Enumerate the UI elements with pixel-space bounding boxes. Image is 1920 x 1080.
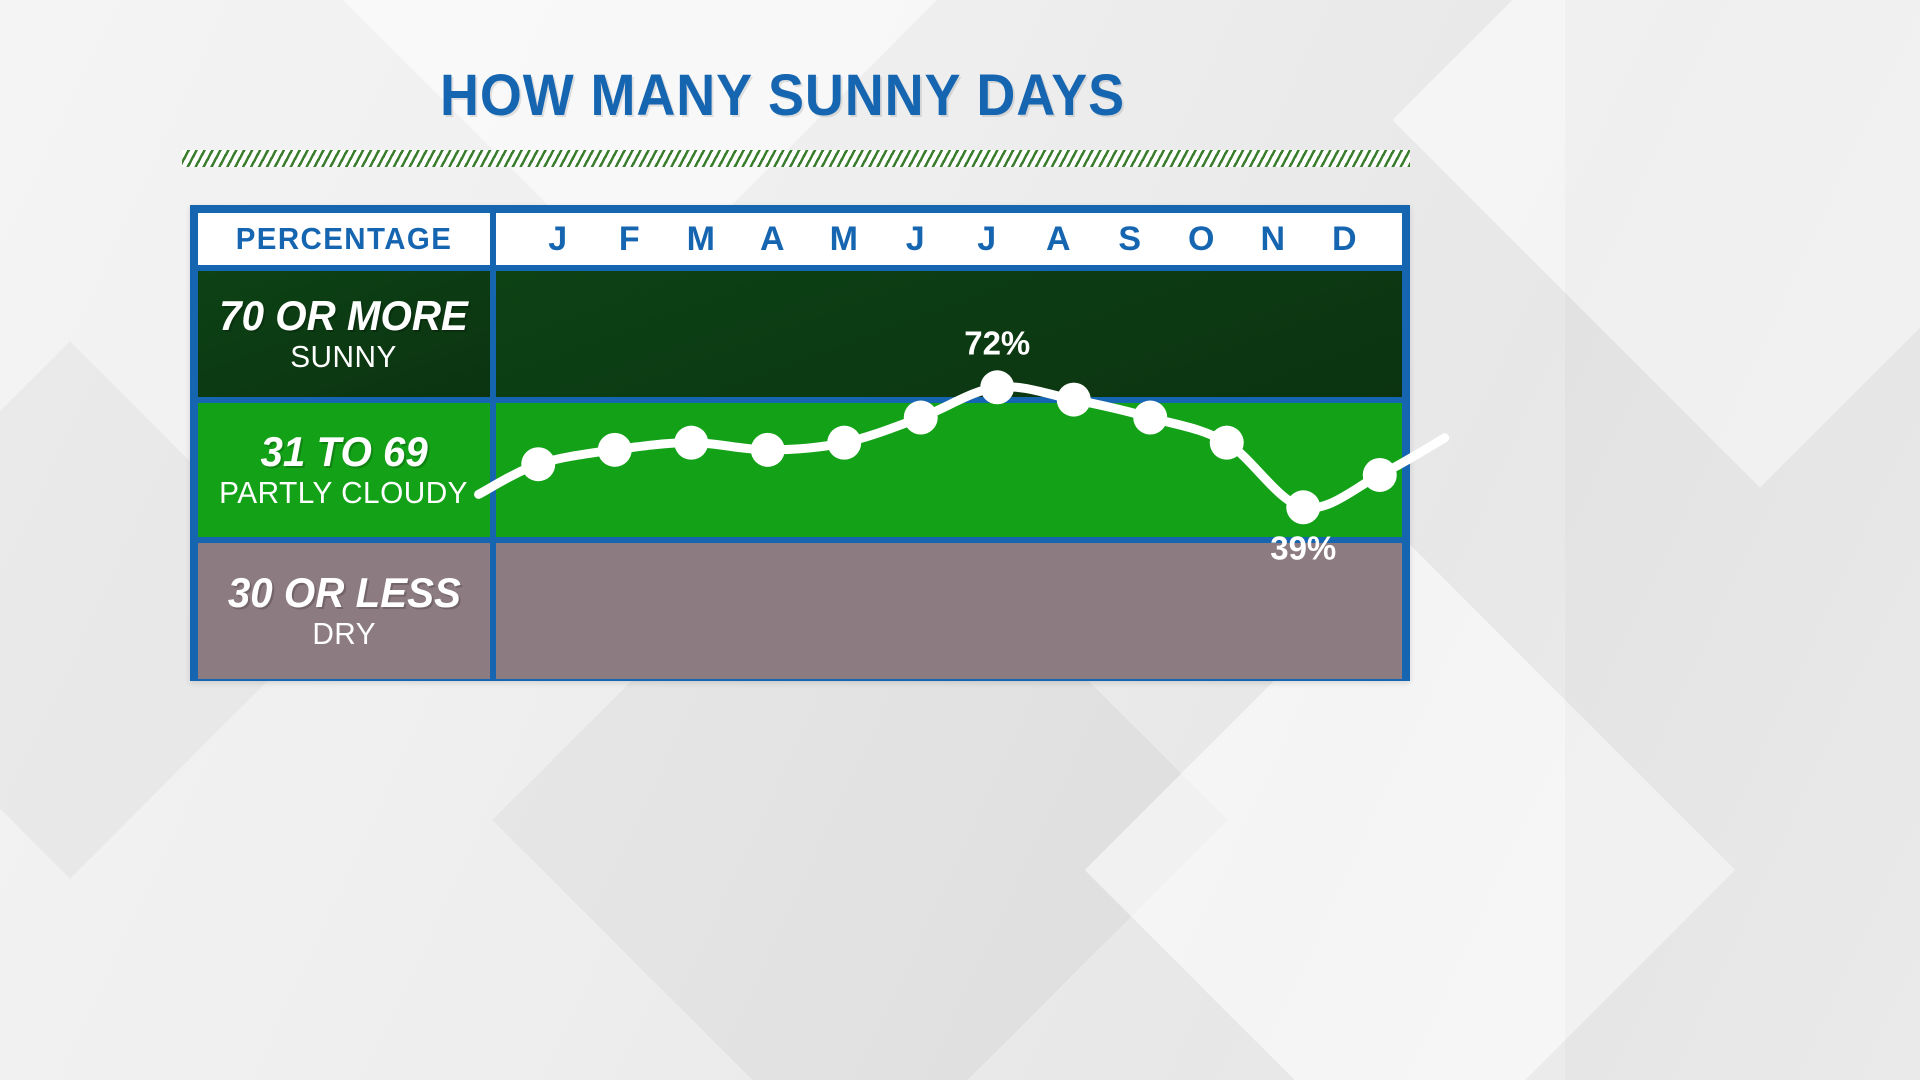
band-row-dry: 30 OR LESS DRY <box>198 543 1402 679</box>
month-label-jan: J <box>522 220 594 259</box>
band-row-sunny: 70 OR MORE SUNNY <box>198 271 1402 397</box>
months-row: J F M A M J J A S O N D <box>496 213 1402 265</box>
band-label-partly-cloudy: 31 TO 69 PARTLY CLOUDY <box>198 403 490 537</box>
band-label-sunny: 70 OR MORE SUNNY <box>198 271 490 397</box>
header-percentage-cell: PERCENTAGE <box>198 213 490 265</box>
band-condition-partly-cloudy: PARTLY CLOUDY <box>220 476 469 510</box>
band-plot-area-partly-cloudy <box>496 403 1402 537</box>
percentage-label: PERCENTAGE <box>236 221 453 257</box>
band-label-dry: 30 OR LESS DRY <box>198 543 490 679</box>
band-range-sunny: 70 OR MORE <box>220 294 469 338</box>
hatched-divider <box>182 150 1410 167</box>
band-range-dry: 30 OR LESS <box>227 571 460 615</box>
band-condition-dry: DRY <box>312 617 376 651</box>
month-label-aug: A <box>1023 220 1095 259</box>
month-label-dec: D <box>1309 220 1381 259</box>
band-range-partly-cloudy: 31 TO 69 <box>260 430 427 474</box>
page-title: HOW MANY SUNNY DAYS <box>55 62 1510 129</box>
month-label-oct: O <box>1166 220 1238 259</box>
month-label-nov: N <box>1237 220 1309 259</box>
month-label-apr: A <box>737 220 809 259</box>
header-months-cell: J F M A M J J A S O N D <box>496 213 1402 265</box>
month-label-jul: J <box>951 220 1023 259</box>
month-label-mar: M <box>665 220 737 259</box>
band-row-partly-cloudy: 31 TO 69 PARTLY CLOUDY <box>198 403 1402 537</box>
band-plot-area-dry <box>496 543 1402 679</box>
month-label-jun: J <box>880 220 952 259</box>
month-label-may: M <box>808 220 880 259</box>
month-label-feb: F <box>594 220 666 259</box>
sunny-days-table: PERCENTAGE J F M A M J J A S O N D 70 OR… <box>190 205 1410 681</box>
table-header-row: PERCENTAGE J F M A M J J A S O N D <box>198 213 1402 265</box>
bg-decor-shape-6 <box>1565 0 1920 1080</box>
band-condition-sunny: SUNNY <box>291 340 398 374</box>
band-plot-area-sunny <box>496 271 1402 397</box>
month-label-sep: S <box>1094 220 1166 259</box>
